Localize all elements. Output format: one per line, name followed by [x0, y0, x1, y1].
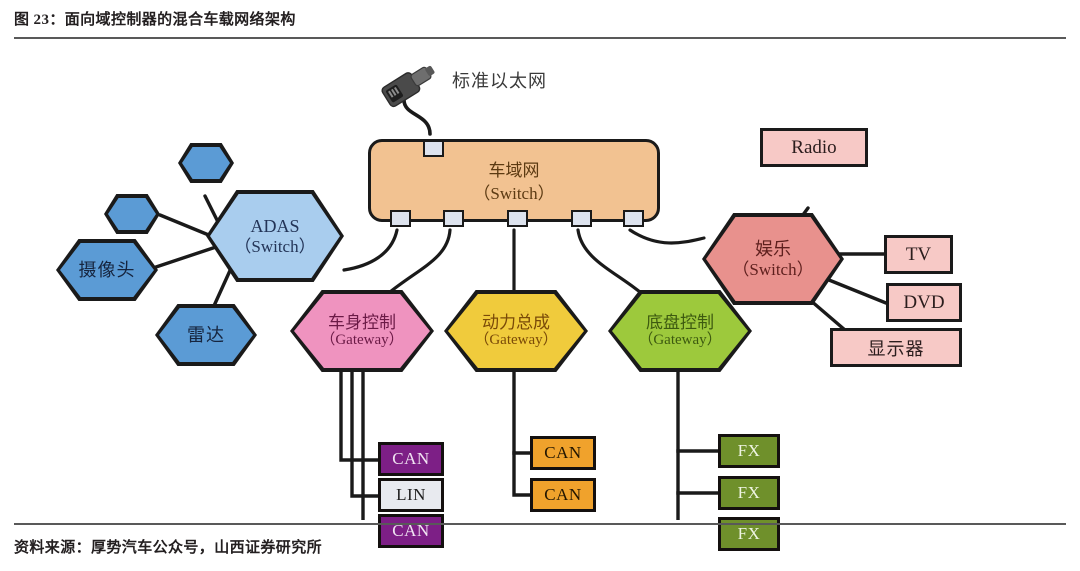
chassis-bus-fx-3-label: FX — [738, 524, 761, 544]
body-bus-can-2[interactable]: CAN — [378, 514, 444, 548]
chassis-bus-fx-1[interactable]: FX — [718, 434, 780, 468]
chassis-label-line1: 底盘控制 — [646, 313, 714, 333]
figure-title: 图 23：面向域控制器的混合车载网络架构 — [14, 8, 296, 29]
body-bus-lin-label: LIN — [396, 485, 426, 505]
radar-label: 雷达 — [155, 304, 257, 366]
chassis-bus-fx-2[interactable]: FX — [718, 476, 780, 510]
adas-sensor-node-left[interactable] — [104, 194, 160, 234]
camera-node[interactable]: 摄像头 — [56, 239, 158, 301]
adas-label: ADAS （Switch） — [206, 190, 344, 282]
switch-port-1[interactable] — [390, 210, 411, 227]
entertainment-label: 娱乐 （Switch） — [702, 213, 844, 305]
radio-label: Radio — [791, 137, 836, 159]
ethernet-label: 标准以太网 — [452, 67, 547, 93]
tv-label: TV — [906, 244, 931, 266]
adas-sensor-node-top[interactable] — [178, 143, 234, 183]
zonal-switch-label: 车域网 （Switch） — [371, 142, 657, 219]
radio-node[interactable]: Radio — [760, 128, 868, 167]
figure-page: 图 23：面向域控制器的混合车载网络架构 — [0, 0, 1080, 571]
powertrain-bus-can-1-label: CAN — [544, 443, 581, 463]
body-control-label: 车身控制 （Gateway） — [290, 290, 434, 372]
powertrain-label: 动力总成 （Gateway） — [444, 290, 588, 372]
adas-label-line1: ADAS — [250, 216, 299, 237]
body-control-label-line1: 车身控制 — [328, 313, 396, 333]
chassis-label-line2: （Gateway） — [638, 332, 721, 349]
entertainment-switch-node[interactable]: 娱乐 （Switch） — [702, 213, 844, 305]
display-node[interactable]: 显示器 — [830, 328, 962, 367]
powertrain-gateway-node[interactable]: 动力总成 （Gateway） — [444, 290, 588, 372]
radar-node[interactable]: 雷达 — [155, 304, 257, 366]
switch-port-top[interactable] — [423, 140, 444, 157]
dvd-label: DVD — [903, 292, 944, 314]
adas-label-line2: （Switch） — [234, 237, 315, 257]
dvd-node[interactable]: DVD — [886, 283, 962, 322]
powertrain-bus-can-1[interactable]: CAN — [530, 436, 596, 470]
body-control-gateway-node[interactable]: 车身控制 （Gateway） — [290, 290, 434, 372]
chassis-bus-fx-1-label: FX — [738, 441, 761, 461]
body-bus-can-1[interactable]: CAN — [378, 442, 444, 476]
title-divider — [14, 37, 1066, 39]
powertrain-label-line2: （Gateway） — [474, 332, 557, 349]
body-control-label-line2: （Gateway） — [320, 332, 403, 349]
switch-port-4[interactable] — [571, 210, 592, 227]
switch-port-5[interactable] — [623, 210, 644, 227]
entertainment-label-line1: 娱乐 — [755, 239, 791, 260]
ethernet-plug-icon — [378, 60, 438, 113]
diagram-canvas: 标准以太网 车域网 （Switch） ADAS （Switch） — [0, 42, 1080, 520]
powertrain-label-line1: 动力总成 — [482, 313, 550, 333]
source-divider — [14, 523, 1066, 525]
entertainment-label-line2: （Switch） — [732, 260, 813, 280]
body-bus-can-1-label: CAN — [392, 449, 429, 469]
figure-source: 资料来源：厚势汽车公众号，山西证券研究所 — [14, 536, 322, 557]
adas-switch-node[interactable]: ADAS （Switch） — [206, 190, 344, 282]
camera-label: 摄像头 — [56, 239, 158, 301]
display-label: 显示器 — [868, 335, 925, 361]
sensor-top-label — [178, 143, 234, 183]
body-bus-lin[interactable]: LIN — [378, 478, 444, 512]
zonal-switch-label-line1: 车域网 — [489, 160, 540, 182]
switch-port-2[interactable] — [443, 210, 464, 227]
tv-node[interactable]: TV — [884, 235, 953, 274]
zonal-switch-label-line2: （Switch） — [473, 183, 554, 205]
sensor-left-label — [104, 194, 160, 234]
zonal-switch-node[interactable]: 车域网 （Switch） — [368, 139, 660, 222]
powertrain-bus-can-2[interactable]: CAN — [530, 478, 596, 512]
powertrain-bus-can-2-label: CAN — [544, 485, 581, 505]
switch-port-3[interactable] — [507, 210, 528, 227]
chassis-bus-fx-2-label: FX — [738, 483, 761, 503]
